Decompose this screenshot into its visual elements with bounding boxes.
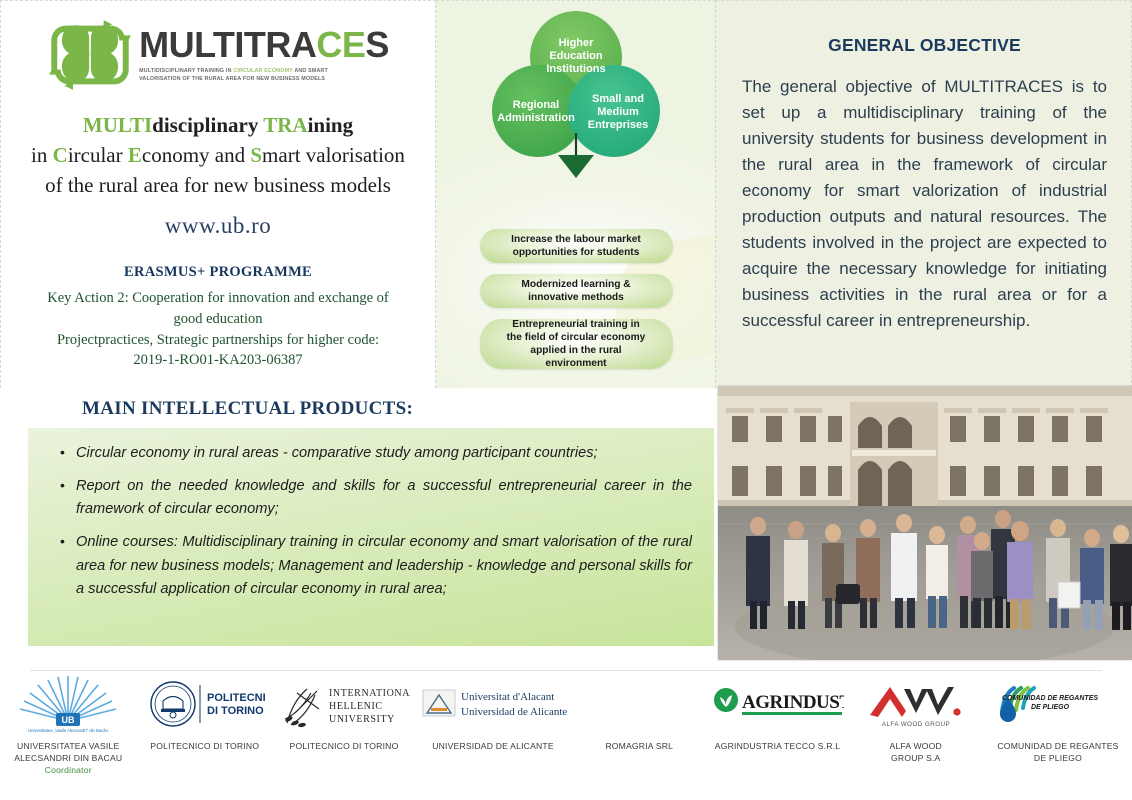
outcomes-list: Increase the labour marketopportunities … [436, 229, 716, 380]
alfa-wood-group-logo-icon: ALFA WOOD GROUP [864, 674, 968, 734]
outcome-3-line-1: Entrepreneurial training in [512, 319, 639, 330]
logo-tagline-line2: VALORISATION OF THE RURAL AREA FOR NEW B… [139, 76, 325, 82]
partner-caption: UNIVERSITATEA VASILE ALECSANDRI DIN BACA… [14, 740, 122, 777]
outcome-1-line-2: opportunities for students [513, 247, 640, 258]
venn-label-higher-education: Higher [559, 37, 595, 49]
svg-text:UB: UB [62, 715, 75, 725]
partner-alfa-wood-group: ALFA WOOD GROUP ALFA WOOD GROUP S.A [848, 674, 985, 764]
project-title: MULTIdisciplinary TRAining in Circular E… [8, 111, 428, 200]
svg-text:DE PLIEGO: DE PLIEGO [1031, 704, 1070, 711]
svg-text:Institutions: Institutions [546, 63, 605, 75]
title-line1-tra: TRA [263, 113, 307, 137]
svg-text:DI TORINO: DI TORINO [207, 705, 264, 717]
group-photo [718, 386, 1132, 660]
partner-caption-line-1: COMUNIDAD DE REGANTES [997, 740, 1118, 752]
svg-text:COMUNIDAD DE REGANTES: COMUNIDAD DE REGANTES [1002, 695, 1098, 702]
partner-caption-line-1: POLITECNICO DI TORINO [290, 740, 399, 752]
venn-diagram: Higher Education Institutions Regional A… [436, 5, 716, 180]
brand-panel: MULTITRACES MULTIDISCIPLINARY TRAINING I… [0, 0, 436, 388]
svg-text:Administration: Administration [497, 112, 575, 124]
top-row: MULTITRACES MULTIDISCIPLINARY TRAINING I… [0, 0, 1132, 388]
partner-caption-line-2: DE PLIEGO [997, 752, 1118, 764]
stakeholders-panel: Higher Education Institutions Regional A… [436, 0, 716, 388]
list-item: Circular economy in rural areas - compar… [76, 442, 692, 466]
partner-caption-line-1: UNIVERSITATEA VASILE [14, 740, 122, 752]
title-line2-in: in [31, 143, 53, 167]
partner-caption: ALFA WOOD GROUP S.A [890, 740, 942, 764]
logo-word-part1: MULTITRA [139, 24, 316, 65]
erasmus-line-3: Projectpractices, Strategic partnerships… [8, 330, 428, 351]
outcome-pill-1: Increase the labour marketopportunities … [480, 229, 673, 263]
erasmus-block: ERASMUS+ PROGRAMME Key Action 2: Coopera… [8, 264, 428, 370]
partner-caption: AGRINDUSTRIA TECCO S.R.L [715, 740, 840, 752]
universidad-alicante-logo-icon: Universitat d'Alacant Universidad de Ali… [419, 674, 567, 734]
erasmus-details: Key Action 2: Cooperation for innovation… [8, 288, 428, 370]
title-line2-mart: mart valorisation [262, 143, 405, 167]
outcome-3-line-3: applied in the rural [530, 345, 621, 356]
svg-text:UNIVERSITY: UNIVERSITY [329, 714, 395, 725]
comunidad-regantes-pliego-logo-icon: COMUNIDAD DE REGANTES DE PLIEGO [988, 674, 1128, 734]
partner-politecnico-torino: POLITECNICO DI TORINO POLITECNICO DI TOR… [137, 674, 274, 752]
title-line1-multi: MULTI [83, 113, 152, 137]
title-line2-ircular: ircular [68, 143, 128, 167]
partner-caption-line-1: AGRINDUSTRIA TECCO S.R.L [715, 740, 840, 752]
title-line2-c: C [53, 143, 68, 167]
general-objective-panel: GENERAL OBJECTIVE The general objective … [716, 0, 1132, 388]
partner-caption-line-2: GROUP S.A [890, 752, 942, 764]
recycle-leaves-icon [47, 15, 133, 95]
title-line1-disciplinary: disciplinary [152, 113, 263, 137]
title-line-3: of the rural area for new business model… [8, 171, 428, 201]
logo-tagline-part3: AND SMART [293, 68, 328, 74]
outcome-pill-2: Modernized learning &innovative methods [480, 274, 673, 308]
erasmus-line-2: good education [8, 309, 428, 330]
website-link[interactable]: www.ub.ro [165, 213, 272, 239]
svg-text:Education: Education [549, 50, 602, 62]
svg-text:Entreprises: Entreprises [588, 119, 649, 131]
erasmus-line-1: Key Action 2: Cooperation for innovation… [8, 288, 428, 309]
agrindustria-logo-icon: AGRINDUSTRIA [712, 674, 844, 734]
partner-logos: UB Universitatea „Vasile Alecsandri” din… [0, 674, 1132, 800]
svg-text:Universitatea „Vasile Alecsand: Universitatea „Vasile Alecsandri” din Ba… [28, 728, 108, 733]
partner-caption-line-1: UNIVERSIDAD DE ALICANTE [432, 740, 554, 752]
main-products-box: Circular economy in rural areas - compar… [28, 428, 714, 646]
outcome-2-line-1: Modernized learning & [521, 279, 630, 290]
partner-role: Coordinator [14, 764, 122, 776]
univ-bacau-logo-icon: UB Universitatea „Vasile Alecsandri” din… [10, 674, 126, 734]
partner-caption: POLITECNICO DI TORINO [150, 740, 259, 752]
title-line-2: in Circular Economy and Smart valorisati… [8, 141, 428, 171]
title-line-1: MULTIdisciplinary TRAining [8, 111, 428, 141]
list-item: Report on the needed knowledge and skill… [76, 475, 692, 522]
outcome-pill-3: Entrepreneurial training inthe field of … [480, 319, 673, 369]
partner-comunidad-regantes-pliego: COMUNIDAD DE REGANTES DE PLIEGO COMUNIDA… [984, 674, 1132, 764]
svg-text:AGRINDUSTRIA: AGRINDUSTRIA [742, 692, 844, 713]
partner-caption: ROMAGRIA SRL [605, 740, 673, 752]
outcome-3-line-2: the field of circular economy [507, 332, 646, 343]
title-line2-e: E [128, 143, 142, 167]
svg-text:Universidad de Alicante: Universidad de Alicante [461, 706, 567, 718]
svg-text:Universitat d'Alacant: Universitat d'Alacant [461, 691, 554, 703]
partners-section: UB Universitatea „Vasile Alecsandri” din… [0, 662, 1132, 800]
partner-universidad-alicante: Universitat d'Alacant Universidad de Ali… [415, 674, 571, 752]
partner-caption-line-1: ROMAGRIA SRL [605, 740, 673, 752]
svg-text:HELLENIC: HELLENIC [329, 701, 383, 712]
main-products-heading: MAIN INTELLECTUAL PRODUCTS: [82, 398, 413, 420]
logo-tagline: MULTIDISCIPLINARY TRAINING IN CIRCULAR E… [139, 68, 335, 83]
venn-label-sme: Small and [592, 93, 644, 105]
svg-text:POLITECNICO: POLITECNICO [207, 692, 265, 704]
partner-caption-line-1: POLITECNICO DI TORINO [150, 740, 259, 752]
politecnico-torino-logo-icon: POLITECNICO DI TORINO [145, 674, 265, 734]
erasmus-heading: ERASMUS+ PROGRAMME [8, 264, 428, 281]
logo-tagline-part1: MULTIDISCIPLINARY TRAINING IN [139, 68, 233, 74]
partner-romagria: ROMAGRIA SRL [571, 674, 708, 752]
logo-word-part3: S [365, 24, 389, 65]
partner-international-hellenic-university: INTERNATIONAL HELLENIC UNIVERSITY POLITE… [273, 674, 415, 752]
multitraces-logo: MULTITRACES MULTIDISCIPLINARY TRAINING I… [1, 15, 435, 95]
partner-caption: POLITECNICO DI TORINO [290, 740, 399, 752]
outcome-1-line-1: Increase the labour market [511, 234, 641, 245]
partner-caption-line-2: ALECSANDRI DIN BACAU [14, 752, 122, 764]
logo-wordmark: MULTITRACES MULTIDISCIPLINARY TRAINING I… [139, 27, 389, 83]
venn-label-regional-administration: Regional [513, 99, 559, 111]
project-poster: MULTITRACES MULTIDISCIPLINARY TRAINING I… [0, 0, 1132, 800]
title-line1-ining: ining [308, 113, 354, 137]
outcome-3-line-4: environment [545, 358, 606, 369]
partner-universitatea-bacau: UB Universitatea „Vasile Alecsandri” din… [0, 674, 137, 777]
general-objective-title: GENERAL OBJECTIVE [742, 35, 1107, 56]
svg-text:ALFA WOOD GROUP: ALFA WOOD GROUP [882, 721, 950, 728]
logo-tagline-highlight: CIRCULAR ECONOMY [233, 68, 293, 74]
main-products-list: Circular economy in rural areas - compar… [58, 442, 692, 602]
list-item: Online courses: Multidisciplinary traini… [76, 531, 692, 602]
divider [30, 670, 1102, 671]
title-line2-conomy: conomy and [142, 143, 250, 167]
partner-caption: UNIVERSIDAD DE ALICANTE [432, 740, 554, 752]
partner-caption-line-1: ALFA WOOD [890, 740, 942, 752]
title-line2-s: S [250, 143, 262, 167]
svg-text:Medium: Medium [597, 106, 639, 118]
general-objective-body: The general objective of MULTITRACES is … [742, 74, 1107, 334]
outcome-2-line-2: innovative methods [528, 292, 624, 303]
partner-caption: COMUNIDAD DE REGANTES DE PLIEGO [997, 740, 1118, 764]
international-hellenic-university-logo-icon: INTERNATIONAL HELLENIC UNIVERSITY [277, 674, 411, 734]
logo-word-part2: CE [316, 24, 365, 65]
erasmus-project-code: 2019-1-RO01-KA203-06387 [8, 350, 428, 371]
svg-text:INTERNATIONAL: INTERNATIONAL [329, 688, 411, 699]
partner-agrindustria-tecco: AGRINDUSTRIA AGRINDUSTRIA TECCO S.R.L [708, 674, 848, 752]
